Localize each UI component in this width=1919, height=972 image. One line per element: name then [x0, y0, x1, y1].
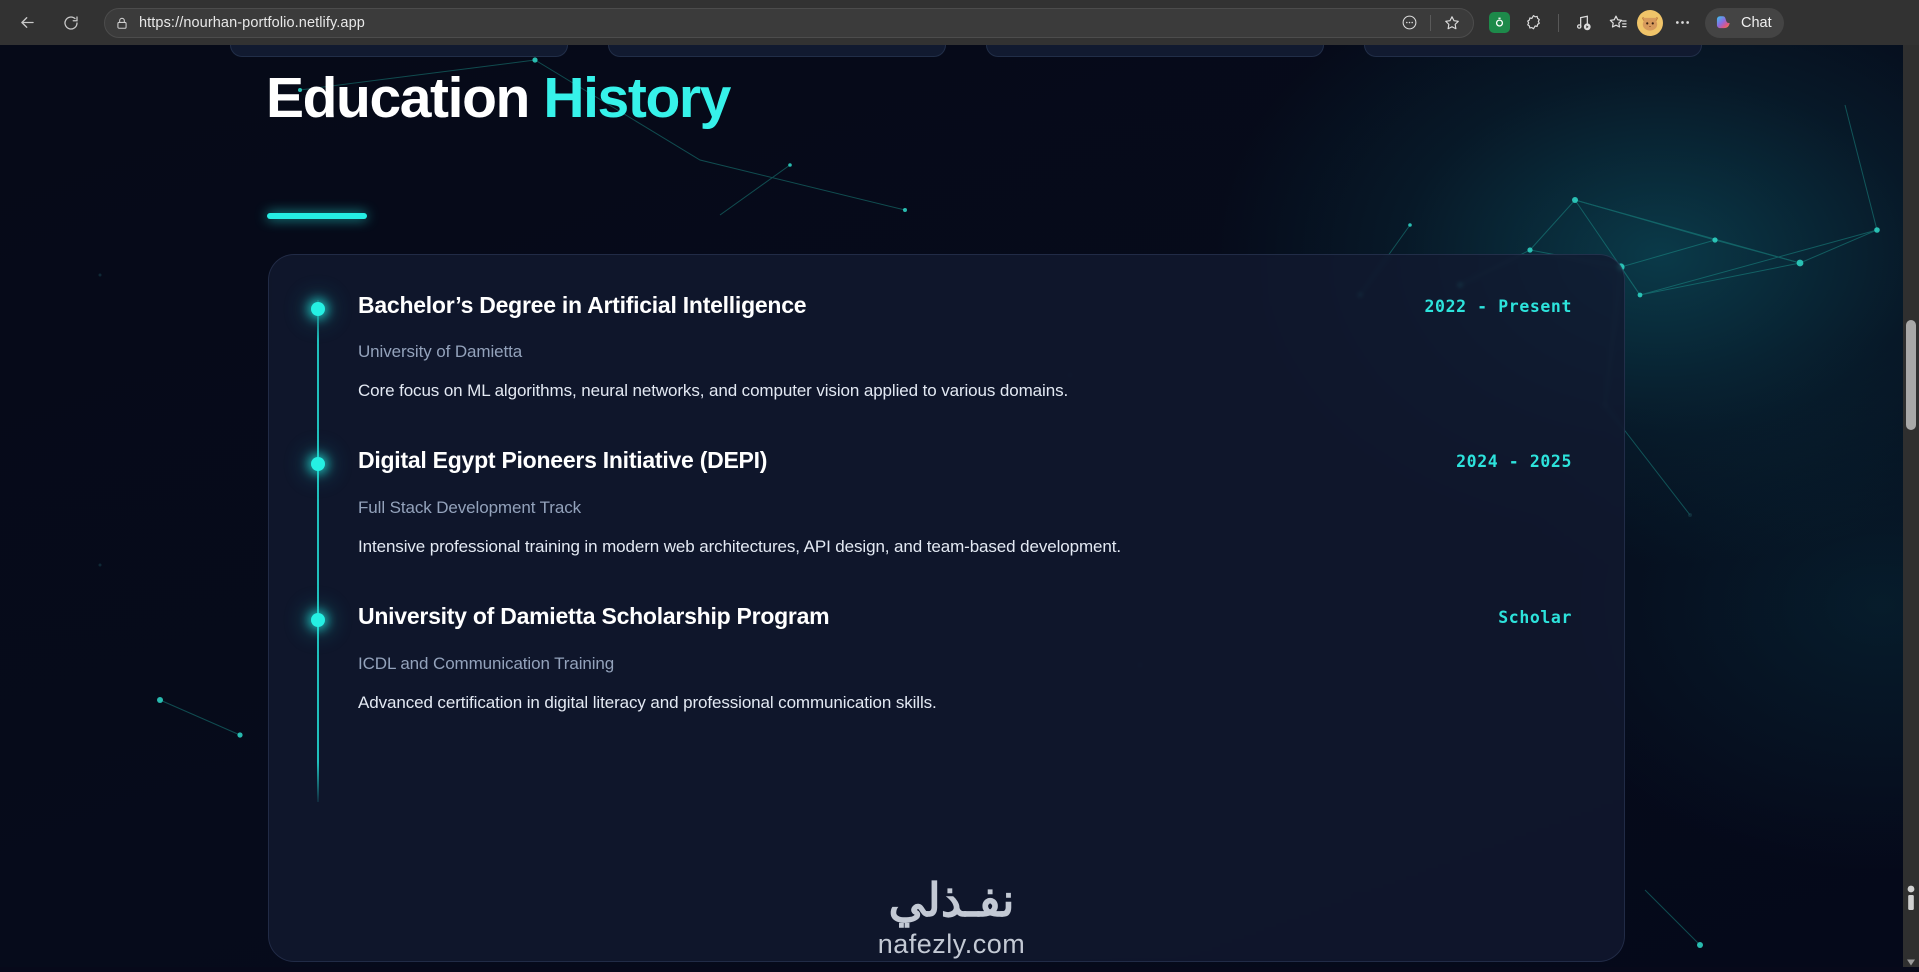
timeline-entry-subtitle: University of Damietta	[358, 342, 522, 362]
nav-card-partial[interactable]	[986, 45, 1324, 57]
back-button[interactable]	[10, 6, 44, 40]
lock-icon	[115, 16, 129, 30]
timeline-entry-period: 2024 - 2025	[1456, 452, 1572, 471]
timeline-dot-icon	[311, 613, 325, 627]
extension-icon[interactable]	[1484, 8, 1514, 38]
copilot-chat-button[interactable]: Chat	[1705, 8, 1784, 38]
toolbar-divider	[1430, 15, 1431, 31]
timeline-entry-description: Intensive professional training in moder…	[358, 537, 1121, 557]
extensions-puzzle-icon[interactable]	[1518, 8, 1548, 38]
media-player-icon[interactable]	[1569, 8, 1599, 38]
nav-card-partial[interactable]	[608, 45, 946, 57]
timeline-dot-icon	[311, 457, 325, 471]
education-timeline-card: Bachelor’s Degree in Artificial Intellig…	[268, 254, 1625, 962]
timeline-rail	[317, 300, 319, 802]
timeline-entry-subtitle: Full Stack Development Track	[358, 498, 581, 518]
timeline-entry-title: Digital Egypt Pioneers Initiative (DEPI)	[358, 447, 767, 474]
reload-button[interactable]	[54, 6, 88, 40]
nav-card-partial[interactable]	[230, 45, 568, 57]
reload-icon	[62, 14, 80, 32]
timeline-entry-period: 2022 - Present	[1425, 297, 1572, 316]
timeline-entry-title: University of Damietta Scholarship Progr…	[358, 603, 829, 630]
page-scrollbar[interactable]	[1903, 45, 1919, 967]
more-options-icon[interactable]	[1394, 8, 1424, 38]
scrollbar-down-arrow-icon[interactable]	[1906, 954, 1916, 963]
toolbar-actions: Chat	[1484, 8, 1784, 38]
timeline-dot-icon	[311, 302, 325, 316]
timeline-entry-title: Bachelor’s Degree in Artificial Intellig…	[358, 292, 806, 319]
url-text: https://nourhan-portfolio.netlify.app	[139, 15, 365, 31]
page-viewport: Education History Bachelor’s Degree in A…	[0, 45, 1903, 967]
back-arrow-icon	[18, 13, 37, 32]
timeline-entry-period: Scholar	[1498, 608, 1572, 627]
nav-card-partial[interactable]	[1364, 45, 1702, 57]
profile-avatar-icon[interactable]	[1637, 10, 1663, 36]
address-bar[interactable]: https://nourhan-portfolio.netlify.app	[104, 8, 1474, 38]
page-position-marker-icon[interactable]	[1906, 885, 1916, 913]
star-icon[interactable]	[1437, 8, 1467, 38]
page-title-word-education: Education	[266, 66, 529, 130]
scrollbar-thumb[interactable]	[1906, 320, 1916, 430]
timeline-entry-description: Advanced certification in digital litera…	[358, 693, 937, 713]
browser-toolbar: https://nourhan-portfolio.netlify.app	[0, 0, 1919, 45]
copilot-icon	[1713, 12, 1734, 33]
page-title: Education History	[266, 70, 730, 127]
settings-and-more-icon[interactable]	[1667, 8, 1697, 38]
title-accent-underline	[267, 213, 367, 219]
toolbar-divider	[1558, 14, 1559, 32]
page-title-word-history: History	[543, 66, 730, 130]
collections-icon[interactable]	[1603, 8, 1633, 38]
copilot-chat-label: Chat	[1741, 15, 1772, 31]
timeline-entry-description: Core focus on ML algorithms, neural netw…	[358, 381, 1068, 401]
timeline-entry-subtitle: ICDL and Communication Training	[358, 654, 614, 674]
